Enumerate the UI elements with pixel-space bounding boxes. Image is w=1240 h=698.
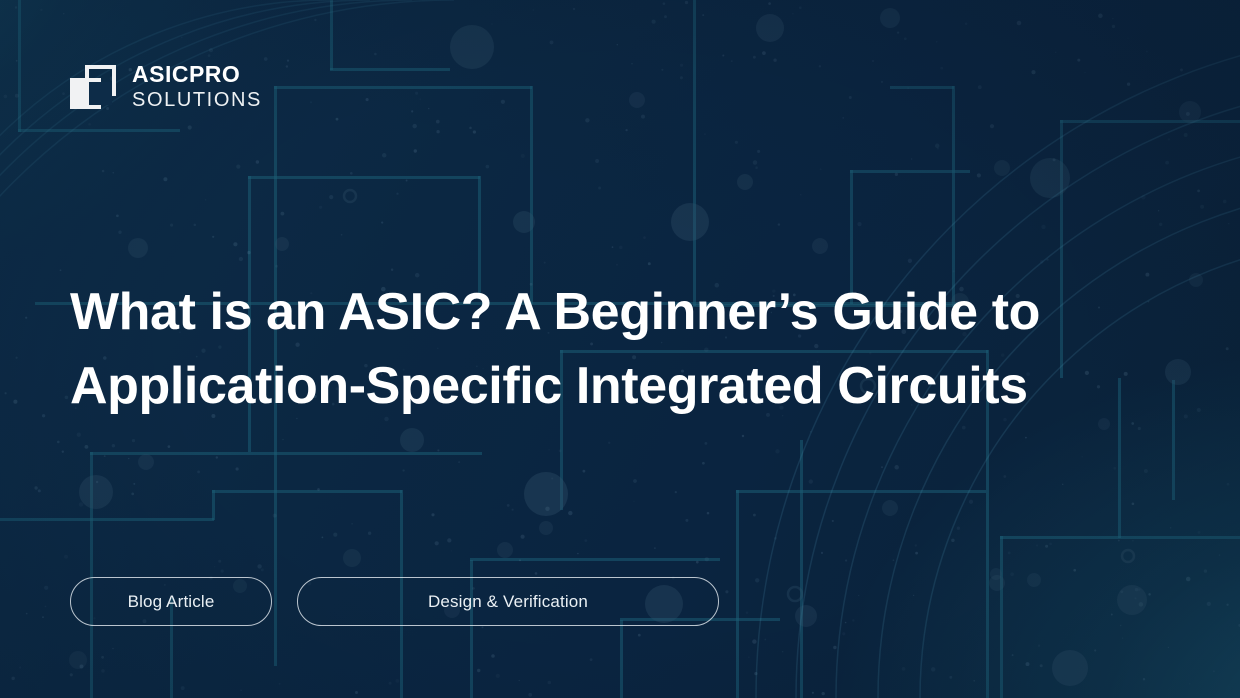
logo-overlap-notch bbox=[89, 82, 112, 105]
brand-name-primary: ASICPRO bbox=[132, 63, 262, 86]
blog-hero-banner: ASICPRO SOLUTIONS What is an ASIC? A Beg… bbox=[0, 0, 1240, 698]
tag-pill-design-verification[interactable]: Design & Verification bbox=[297, 577, 719, 626]
brand-name-secondary: SOLUTIONS bbox=[132, 90, 262, 110]
hero-headline: What is an ASIC? A Beginner’s Guide to A… bbox=[70, 276, 1130, 424]
hero-content: ASICPRO SOLUTIONS What is an ASIC? A Beg… bbox=[0, 0, 1240, 698]
brand-wordmark: ASICPRO SOLUTIONS bbox=[132, 63, 262, 110]
brand-logo[interactable]: ASICPRO SOLUTIONS bbox=[70, 63, 262, 110]
headline-line-2: Application-Specific Integrated Circuits bbox=[70, 350, 1130, 424]
headline-line-1: What is an ASIC? A Beginner’s Guide to bbox=[70, 276, 1130, 350]
tag-pill-blog-article[interactable]: Blog Article bbox=[70, 577, 272, 626]
hero-tag-row: Blog Article Design & Verification bbox=[70, 577, 719, 626]
overlapping-squares-logo-mark bbox=[70, 65, 116, 109]
